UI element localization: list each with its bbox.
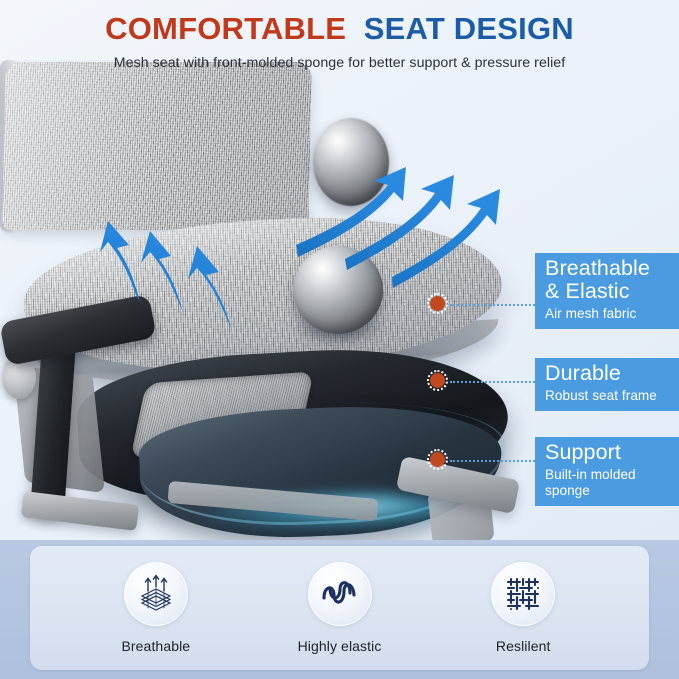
feature-resilient-label: Reslilent [496, 626, 551, 654]
leader-line-durable [450, 381, 535, 383]
callout-support-heading: Support [545, 441, 669, 464]
callout-durable-sub: Robust seat frame [545, 385, 669, 404]
feature-elastic-label: Highly elastic [298, 626, 382, 654]
airflow-arrow-1 [100, 221, 140, 302]
header: COMFORTABLE SEAT DESIGN Mesh seat with f… [0, 0, 679, 88]
feature-breathable-label: Breathable [121, 626, 190, 654]
callout-durable-heading: Durable [545, 362, 669, 385]
feature-list: Breathable Highly elastic [30, 546, 649, 670]
title-part-seat-design: SEAT DESIGN [364, 11, 574, 46]
woven-mesh-icon [504, 575, 542, 613]
feature-breathable-icon-circle [124, 562, 188, 626]
callout-support-sub: Built-in molded sponge [545, 464, 669, 499]
feature-elastic-icon-circle [308, 562, 372, 626]
feature-resilient[interactable]: Reslilent [431, 546, 615, 670]
airflow-arrow-2 [141, 231, 184, 316]
feature-resilient-icon-circle [491, 562, 555, 626]
callout-breathable-heading-line2: & Elastic [545, 280, 669, 303]
marker-support[interactable] [430, 452, 445, 467]
breathable-layers-icon [136, 574, 176, 614]
page-subtitle: Mesh seat with front-molded sponge for b… [0, 46, 679, 71]
feature-highly-elastic[interactable]: Highly elastic [248, 546, 432, 670]
callout-support[interactable]: Support Built-in molded sponge [535, 437, 679, 506]
leader-line-support [450, 460, 535, 462]
airflow-arrow-3 [188, 246, 233, 334]
callout-breathable-heading-line1: Breathable [545, 257, 669, 280]
airflow-arrow-right-group [296, 167, 500, 288]
callout-breathable[interactable]: Breathable & Elastic Air mesh fabric [535, 253, 679, 329]
marker-breathable[interactable] [430, 296, 445, 311]
marker-durable[interactable] [430, 373, 445, 388]
airflow-arrow-left-group [100, 221, 233, 334]
callout-breathable-sub: Air mesh fabric [545, 303, 669, 322]
feature-breathable[interactable]: Breathable [64, 546, 248, 670]
leader-line-breathable [450, 304, 535, 306]
callout-durable[interactable]: Durable Robust seat frame [535, 358, 679, 411]
page-title: COMFORTABLE SEAT DESIGN [0, 0, 679, 46]
spring-wave-icon [319, 576, 361, 612]
title-part-comfortable: COMFORTABLE [105, 11, 346, 46]
